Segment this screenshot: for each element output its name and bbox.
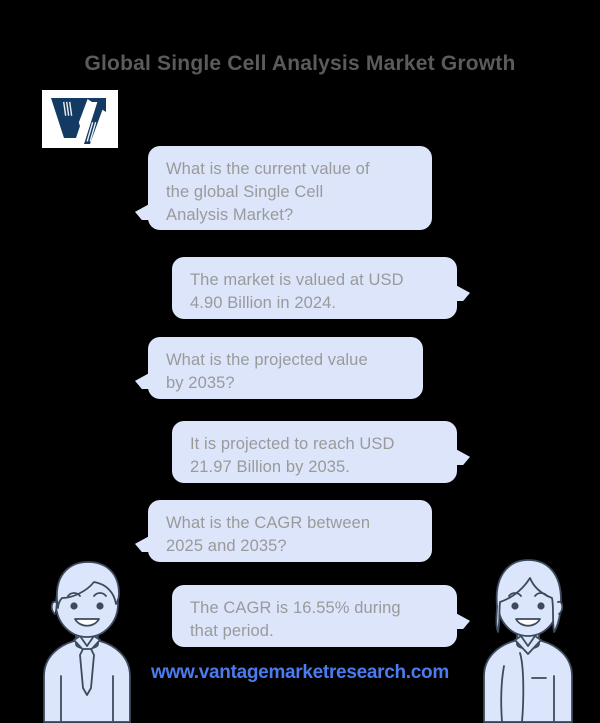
female-analyst-avatar bbox=[470, 548, 588, 722]
chat-bubble-question-3[interactable]: What is the CAGR between 2025 and 2035? bbox=[148, 500, 432, 562]
chat-bubble-question-1[interactable]: What is the current value of the global … bbox=[148, 146, 432, 230]
chat-bubble-answer-3[interactable]: The CAGR is 16.55% during that period. bbox=[172, 585, 457, 647]
chat-bubble-question-2[interactable]: What is the projected value by 2035? bbox=[148, 337, 423, 399]
bubble-line: 2025 and 2035? bbox=[166, 535, 416, 558]
infographic-canvas: Global Single Cell Analysis Market Growt… bbox=[0, 0, 600, 722]
chat-bubble-answer-2[interactable]: It is projected to reach USD 21.97 Billi… bbox=[172, 421, 457, 483]
bubble-line: What is the current value of bbox=[166, 158, 416, 181]
bubble-line: What is the projected value bbox=[166, 349, 407, 372]
bubble-line: Analysis Market? bbox=[166, 204, 416, 227]
male-analyst-avatar bbox=[28, 548, 146, 722]
page-title: Global Single Cell Analysis Market Growt… bbox=[0, 52, 600, 76]
bubble-line: What is the CAGR between bbox=[166, 512, 416, 535]
bubble-line: The market is valued at USD bbox=[190, 269, 441, 292]
bubble-line: The CAGR is 16.55% during bbox=[190, 597, 441, 620]
bubble-line: that period. bbox=[190, 620, 441, 643]
vantage-market-research-logo bbox=[42, 90, 118, 148]
website-url[interactable]: www.vantagemarketresearch.com bbox=[0, 662, 600, 684]
bubble-line: by 2035? bbox=[166, 372, 407, 395]
bubble-line: 4.90 Billion in 2024. bbox=[190, 292, 441, 315]
bubble-line: It is projected to reach USD bbox=[190, 433, 441, 456]
bubble-line: the global Single Cell bbox=[166, 181, 416, 204]
bubble-line: 21.97 Billion by 2035. bbox=[190, 456, 441, 479]
chat-bubble-answer-1[interactable]: The market is valued at USD 4.90 Billion… bbox=[172, 257, 457, 319]
